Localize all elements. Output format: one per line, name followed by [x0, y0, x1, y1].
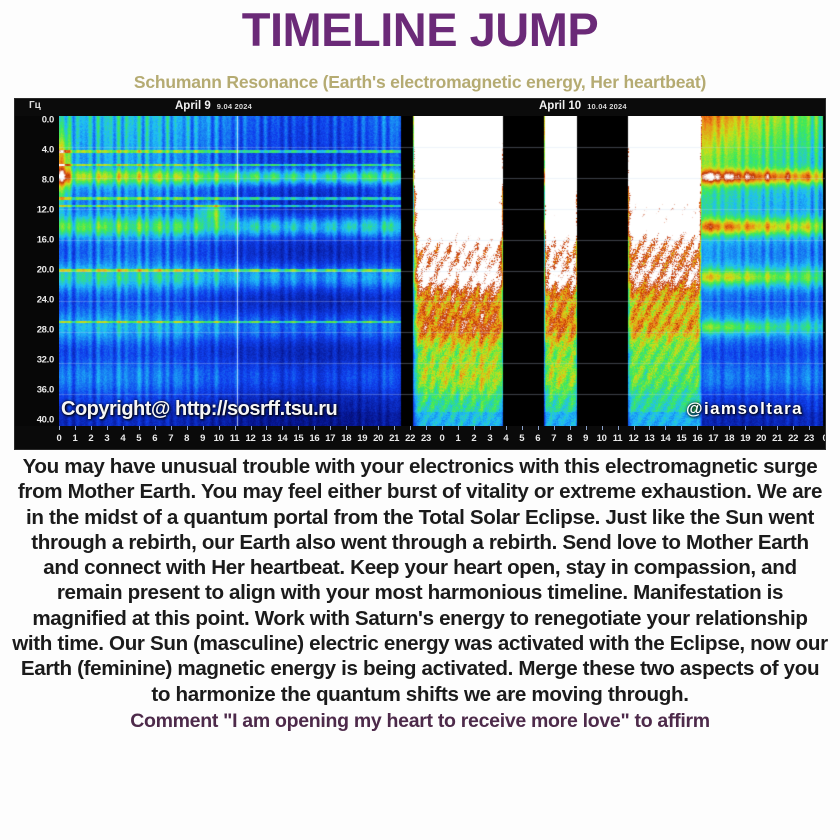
- x-axis-tickmark: [426, 426, 427, 430]
- x-axis-tick: 4: [120, 433, 125, 444]
- x-axis-tick: 19: [740, 433, 750, 444]
- x-axis-tick: 22: [788, 433, 798, 444]
- day-name: April 9: [175, 100, 211, 112]
- x-axis-tick: 12: [246, 433, 256, 444]
- x-axis-tick: 23: [421, 433, 431, 444]
- x-axis-tickmark: [298, 426, 299, 430]
- day-label-april-10: April 1010.04 2024: [539, 100, 627, 112]
- y-axis-tick: 28.0: [37, 325, 54, 336]
- x-axis-tickmark: [171, 426, 172, 430]
- day-label-april-9: April 99.04 2024: [175, 100, 252, 112]
- x-axis-tickmark: [123, 426, 124, 430]
- y-axis: 0.04.08.012.016.020.024.028.032.036.040.…: [15, 116, 59, 426]
- x-axis-tickmark: [554, 426, 555, 430]
- x-axis-tickmark: [203, 426, 204, 430]
- y-axis-tick: 20.0: [37, 265, 54, 276]
- x-axis-tick: 6: [152, 433, 157, 444]
- call-to-action: Comment "I am opening my heart to receiv…: [0, 707, 840, 733]
- body-paragraph: You may have unusual trouble with your e…: [0, 450, 840, 707]
- x-axis-tick: 16: [309, 433, 319, 444]
- spectrogram-canvas: [59, 116, 826, 426]
- x-axis-tick: 1: [72, 433, 77, 444]
- y-axis-tick: 0.0: [42, 115, 54, 126]
- y-axis-tick: 8.0: [42, 175, 54, 186]
- x-axis-tick: 19: [357, 433, 367, 444]
- x-axis-tickmark: [713, 426, 714, 430]
- y-axis-tick: 24.0: [37, 295, 54, 306]
- x-axis-tickmark: [314, 426, 315, 430]
- x-axis-tickmark: [75, 426, 76, 430]
- x-axis-tick: 0: [57, 433, 62, 444]
- x-axis-tickmark: [155, 426, 156, 430]
- x-axis-tickmark: [266, 426, 267, 430]
- copyright-watermark: Copyright@ http://sosrff.tsu.ru: [61, 398, 337, 421]
- x-axis-tick: 8: [184, 433, 189, 444]
- x-axis-tick: 21: [389, 433, 399, 444]
- x-axis-tickmark: [330, 426, 331, 430]
- x-axis-tick: 11: [613, 433, 622, 444]
- x-axis-tick: 13: [644, 433, 654, 444]
- schumann-spectrogram-figure: Гц April 99.04 2024 April 1010.04 2024 0…: [14, 98, 826, 450]
- unit-label: Гц: [29, 100, 41, 111]
- x-axis-tick: 8: [567, 433, 572, 444]
- poster-root: TIMELINE JUMP Schumann Resonance (Earth'…: [0, 0, 840, 840]
- x-axis-tick: 22: [405, 433, 415, 444]
- x-axis-tick: 16: [692, 433, 702, 444]
- x-axis-tickmark: [634, 426, 635, 430]
- x-axis-tickmark: [251, 426, 252, 430]
- y-axis-tick: 40.0: [37, 415, 54, 426]
- x-axis-tick: 15: [676, 433, 686, 444]
- x-axis-tickmark: [458, 426, 459, 430]
- x-axis-tickmark: [362, 426, 363, 430]
- y-axis-tick: 36.0: [37, 385, 54, 396]
- x-axis-tick: 2: [471, 433, 476, 444]
- x-axis-tickmark: [282, 426, 283, 430]
- x-axis-tickmark: [394, 426, 395, 430]
- x-axis-tickmark: [139, 426, 140, 430]
- x-axis-tickmark: [665, 426, 666, 430]
- x-axis-tickmark: [378, 426, 379, 430]
- x-axis-tickmark: [602, 426, 603, 430]
- plot-area: 0.04.08.012.016.020.024.028.032.036.040.…: [15, 116, 826, 450]
- x-axis-tick: 21: [772, 433, 782, 444]
- x-axis-tick: 10: [214, 433, 224, 444]
- x-axis-tick: 12: [629, 433, 639, 444]
- x-axis-tick: 3: [104, 433, 109, 444]
- x-axis-tick: 14: [277, 433, 287, 444]
- x-axis-tickmark: [490, 426, 491, 430]
- x-axis-tickmark: [59, 426, 60, 430]
- x-axis-tickmark: [761, 426, 762, 430]
- x-axis-tick: 7: [551, 433, 556, 444]
- x-axis-tickmark: [681, 426, 682, 430]
- x-axis-tickmark: [793, 426, 794, 430]
- x-axis-tick: 7: [168, 433, 173, 444]
- x-axis-tickmark: [474, 426, 475, 430]
- x-axis-tick: 18: [341, 433, 351, 444]
- x-axis-tick: 4: [503, 433, 508, 444]
- x-axis-tick: 11: [230, 433, 239, 444]
- x-axis-tick: 6: [535, 433, 540, 444]
- x-axis-tick: 13: [261, 433, 271, 444]
- day-name: April 10: [539, 100, 581, 112]
- x-axis-tick: 20: [373, 433, 383, 444]
- y-axis-tick: 4.0: [42, 145, 54, 156]
- y-axis-tick: 16.0: [37, 235, 54, 246]
- x-axis-tickmark: [346, 426, 347, 430]
- x-axis-tickmark: [107, 426, 108, 430]
- x-axis-tick: 3: [487, 433, 492, 444]
- page-title: TIMELINE JUMP: [0, 0, 840, 64]
- x-axis-tick: 0: [440, 433, 445, 444]
- x-axis-tick: 17: [325, 433, 335, 444]
- x-axis-tickmark: [538, 426, 539, 430]
- x-axis-tickmark: [91, 426, 92, 430]
- x-axis: 0123456789101112131415161718192021222301…: [15, 426, 826, 450]
- x-axis-tick: 23: [804, 433, 814, 444]
- x-axis-tick: 10: [597, 433, 607, 444]
- x-axis-tick: 18: [724, 433, 734, 444]
- x-axis-tick: 17: [708, 433, 718, 444]
- x-axis-tickmark: [618, 426, 619, 430]
- page-subtitle: Schumann Resonance (Earth's electromagne…: [0, 64, 840, 98]
- x-axis-tickmark: [442, 426, 443, 430]
- x-axis-tickmark: [649, 426, 650, 430]
- y-axis-tick: 12.0: [37, 205, 54, 216]
- x-axis-tickmark: [809, 426, 810, 430]
- y-axis-tick: 32.0: [37, 355, 54, 366]
- figure-header-bar: Гц April 99.04 2024 April 1010.04 2024: [15, 99, 825, 116]
- x-axis-tickmark: [586, 426, 587, 430]
- x-axis-tickmark: [777, 426, 778, 430]
- x-axis-tick: 20: [756, 433, 766, 444]
- x-axis-tick: 9: [583, 433, 588, 444]
- x-axis-tickmark: [506, 426, 507, 430]
- account-handle-watermark: @iamsoltara: [686, 399, 803, 419]
- x-axis-tick: 0: [823, 433, 826, 444]
- x-axis-tick: 2: [88, 433, 93, 444]
- x-axis-tick: 14: [660, 433, 670, 444]
- x-axis-tickmark: [235, 426, 236, 430]
- x-axis-tickmark: [825, 426, 826, 430]
- x-axis-tickmark: [522, 426, 523, 430]
- day-date: 9.04 2024: [217, 102, 252, 111]
- spectrogram-image: [59, 116, 826, 426]
- x-axis-tickmark: [570, 426, 571, 430]
- day-date: 10.04 2024: [587, 102, 627, 111]
- x-axis-tick: 1: [455, 433, 460, 444]
- x-axis-tick: 9: [200, 433, 205, 444]
- x-axis-tickmark: [729, 426, 730, 430]
- x-axis-tick: 5: [136, 433, 141, 444]
- x-axis-tick: 5: [519, 433, 524, 444]
- x-axis-tickmark: [187, 426, 188, 430]
- x-axis-tickmark: [410, 426, 411, 430]
- x-axis-tickmark: [697, 426, 698, 430]
- x-axis-tick: 15: [293, 433, 303, 444]
- x-axis-tickmark: [745, 426, 746, 430]
- x-axis-tickmark: [219, 426, 220, 430]
